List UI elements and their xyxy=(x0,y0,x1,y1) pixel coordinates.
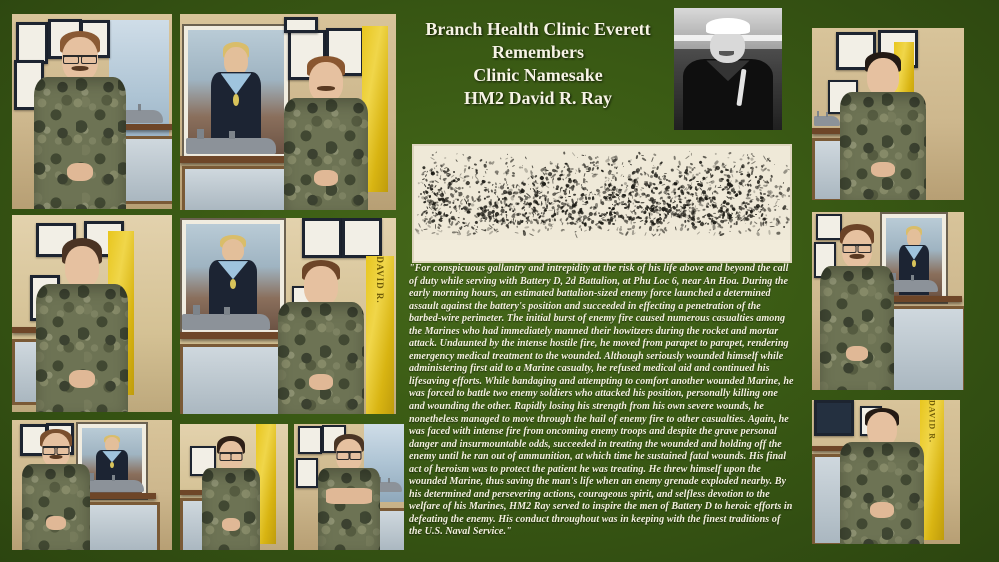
display-case xyxy=(182,166,288,210)
navy-working-uniform xyxy=(284,98,368,210)
eyeglasses xyxy=(843,244,872,252)
sailor-figure xyxy=(278,258,364,414)
photo-content: DAVID R. xyxy=(180,218,396,414)
sailor-photo-right-bottom: DAVID R. xyxy=(812,400,960,544)
hands xyxy=(67,163,93,181)
title-line-1: Branch Health Clinic Everett xyxy=(404,18,672,41)
head xyxy=(65,246,99,288)
sailor-figure xyxy=(202,434,260,550)
sailor-photo-left-bottom xyxy=(12,420,172,550)
title-line-2: Remembers xyxy=(404,41,672,64)
photo-content xyxy=(12,14,172,209)
ship-model xyxy=(814,116,840,126)
dixie-cup-cover xyxy=(706,18,749,34)
head xyxy=(867,412,897,446)
mustache xyxy=(72,66,89,71)
hands xyxy=(871,162,895,177)
framed-certificate xyxy=(302,218,342,258)
photo-content xyxy=(180,424,288,550)
sailor-photo-center-bottom-right xyxy=(294,424,404,550)
sailor-figure xyxy=(284,54,368,210)
display-shelf xyxy=(180,156,286,163)
photo-content xyxy=(294,424,404,550)
smile xyxy=(719,51,734,56)
flag-label: DAVID R. xyxy=(928,400,937,443)
navy-working-uniform xyxy=(22,464,90,550)
title-line-4: HM2 David R. Ray xyxy=(404,87,672,110)
head xyxy=(867,58,899,96)
mustache xyxy=(850,254,865,259)
medal-of-honor xyxy=(912,260,915,267)
hands xyxy=(46,516,66,530)
eyeglasses xyxy=(63,55,97,64)
flag-label: DAVID R. xyxy=(375,256,385,303)
battle-scene-engraving xyxy=(412,144,792,263)
head xyxy=(309,62,343,102)
face xyxy=(710,30,746,63)
sailor-figure xyxy=(840,50,926,200)
navy-working-uniform xyxy=(36,284,128,412)
navy-working-uniform xyxy=(318,468,380,550)
historic-portrait-hm2-david-r-ray xyxy=(674,8,782,130)
display-case xyxy=(180,344,288,414)
head xyxy=(304,266,338,306)
sailor-figure xyxy=(840,408,924,544)
crossed-arms xyxy=(326,488,372,504)
title-line-3: Clinic Namesake xyxy=(404,64,672,87)
portrait-head xyxy=(224,47,247,74)
sailor-figure xyxy=(820,222,894,390)
navy-working-uniform xyxy=(34,77,126,209)
photo-content xyxy=(12,420,172,550)
ship-model xyxy=(186,138,276,154)
navy-working-uniform xyxy=(202,468,260,550)
engraving-ink-detail xyxy=(416,150,788,251)
ship-model xyxy=(182,314,270,330)
photo-content xyxy=(180,14,396,210)
sailor-photo-center-bottom-left xyxy=(180,424,288,550)
framed-certificate xyxy=(296,458,318,488)
medal-of-honor xyxy=(230,279,236,289)
eyeglasses xyxy=(43,446,70,454)
hands xyxy=(309,374,333,390)
sailor-figure xyxy=(22,428,90,550)
photo-content xyxy=(812,212,964,390)
sailor-photo-left-top xyxy=(12,14,172,209)
ship-model xyxy=(82,480,144,492)
command-flag: DAVID R. xyxy=(366,256,394,414)
medal-of-honor xyxy=(110,462,114,468)
navy-working-uniform xyxy=(278,302,364,414)
navy-working-uniform xyxy=(820,266,894,390)
navy-working-uniform xyxy=(840,92,926,200)
memorial-poster: DAVID R. xyxy=(0,0,999,562)
hands xyxy=(870,502,894,518)
navy-working-uniform xyxy=(840,442,924,544)
sailor-figure xyxy=(34,29,126,209)
framed-certificate xyxy=(342,218,382,258)
sailor-photo-center-top xyxy=(180,14,396,210)
hands xyxy=(222,518,240,531)
medal-of-honor xyxy=(233,94,239,105)
sailor-photo-right-top xyxy=(812,28,964,200)
eyeglasses xyxy=(220,452,243,459)
portrait-head xyxy=(907,229,920,247)
display-shelf xyxy=(180,332,284,339)
mustache xyxy=(317,86,335,91)
photo-content xyxy=(12,215,172,412)
photo-content: DAVID R. xyxy=(812,400,960,544)
sailor-photo-center-middle: DAVID R. xyxy=(180,218,396,414)
sailor-figure xyxy=(36,234,128,412)
hands xyxy=(314,170,338,186)
poster-title: Branch Health Clinic Everett Remembers C… xyxy=(404,18,672,110)
sailor-photo-right-middle xyxy=(812,212,964,390)
sailor-figure xyxy=(318,434,380,550)
eyeglasses xyxy=(337,451,362,458)
hands xyxy=(846,346,868,361)
medal-of-honor-citation: "For conspicuous gallantry and intrepidi… xyxy=(409,263,795,555)
sailor-photo-left-middle xyxy=(12,215,172,412)
photo-content xyxy=(812,28,964,200)
portrait-head xyxy=(222,239,245,262)
mustache xyxy=(50,455,63,459)
framed-certificate xyxy=(284,17,318,33)
hands xyxy=(69,370,95,388)
